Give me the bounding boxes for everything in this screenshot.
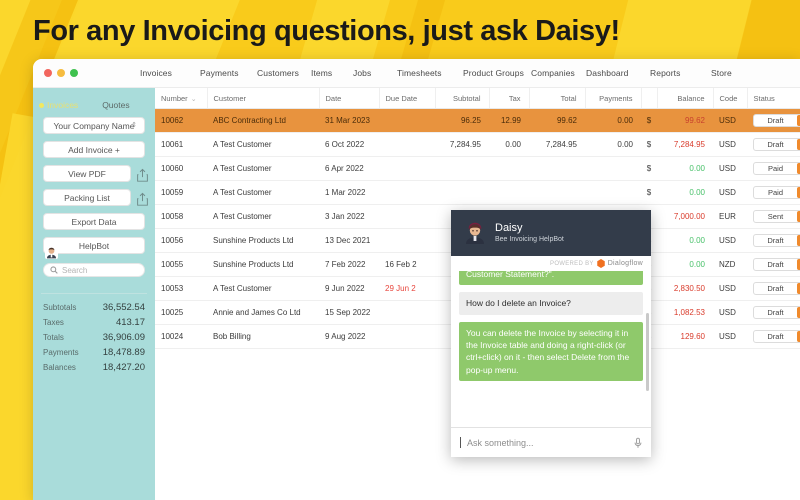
nav-item-product-groups[interactable]: Product Groups — [463, 68, 524, 78]
status-badge[interactable]: Draft▲▼ — [753, 234, 800, 247]
cell-code: USD — [713, 325, 747, 349]
table-row[interactable]: 10062ABC Contracting Ltd31 Mar 202396.25… — [155, 109, 800, 133]
column-header-label: Total — [561, 94, 577, 103]
powered-by-bar: POWERED BY Dialogflow — [451, 256, 651, 271]
cell-balance: 7,000.00 — [657, 205, 713, 229]
cell-subtotal: 96.25 — [435, 109, 489, 133]
column-header-code[interactable]: Code — [713, 88, 747, 109]
table-row[interactable]: 10060A Test Customer6 Apr 2022$0.00USDPa… — [155, 157, 800, 181]
cell-date: 6 Oct 2022 — [319, 133, 379, 157]
column-header-date[interactable]: Date — [319, 88, 379, 109]
cell-customer: ABC Contracting Ltd — [207, 109, 319, 133]
sidebar: Invoices Quotes Your Company Name ⇕ Add … — [33, 88, 155, 500]
nav-item-payments[interactable]: Payments — [200, 68, 239, 78]
column-header-customer[interactable]: Customer — [207, 88, 319, 109]
cell-due-date — [379, 157, 435, 181]
balance-value: 0.00 — [689, 260, 705, 269]
chat-title: Daisy — [495, 222, 564, 236]
column-header-label: Customer — [214, 94, 247, 103]
cell-customer: Bob Billing — [207, 325, 319, 349]
chat-messages: Customer Statement?". How do I delete an… — [451, 271, 651, 427]
cell-due-date — [379, 301, 435, 325]
company-selector-label: Your Company Name — [54, 121, 135, 131]
cell-due-date — [379, 133, 435, 157]
cell-due-date: 16 Feb 2 — [379, 253, 435, 277]
cell-customer: A Test Customer — [207, 157, 319, 181]
status-label: Draft — [754, 236, 797, 245]
sidebar-tabs: Invoices Quotes — [33, 96, 155, 110]
cell-customer: A Test Customer — [207, 133, 319, 157]
cell-tax — [489, 181, 529, 205]
balance-value: 129.60 — [681, 332, 705, 341]
sidebar-tab-invoices[interactable]: Invoices — [39, 100, 78, 110]
cell-customer: Sunshine Products Ltd — [207, 229, 319, 253]
cell-number: 10061 — [155, 133, 207, 157]
cell-code: USD — [713, 229, 747, 253]
cell-status: Draft▲▼ — [747, 277, 800, 301]
column-header-currency[interactable] — [641, 88, 657, 109]
summary-totals: Subtotals36,552.54Taxes413.17Totals36,90… — [41, 293, 147, 375]
cell-subtotal — [435, 181, 489, 205]
cell-payments — [585, 157, 641, 181]
share-icon[interactable] — [136, 192, 149, 207]
sort-chevron-icon[interactable]: ⌄ — [191, 96, 197, 103]
nav-item-jobs[interactable]: Jobs — [353, 68, 371, 78]
balance-value: 7,000.00 — [674, 212, 705, 221]
column-header-label: Date — [326, 94, 342, 103]
sidebar-tab-label: Invoices — [47, 100, 78, 110]
status-label: Paid — [754, 188, 797, 197]
cell-currency-symbol: $ — [641, 181, 657, 205]
add-invoice-button[interactable]: Add Invoice + — [43, 141, 145, 158]
status-label: Draft — [754, 284, 797, 293]
balance-value: 0.00 — [689, 164, 705, 173]
cell-payments: 0.00 — [585, 133, 641, 157]
status-label: Draft — [754, 332, 797, 341]
cell-payments — [585, 181, 641, 205]
cell-date: 3 Jan 2022 — [319, 205, 379, 229]
cell-subtotal — [435, 157, 489, 181]
cell-due-date: 29 Jun 2 — [379, 277, 435, 301]
helpbot-avatar-icon — [45, 246, 58, 259]
column-header-label: Tax — [509, 94, 521, 103]
packing-list-label: Packing List — [64, 193, 110, 203]
cell-due-date — [379, 205, 435, 229]
company-selector[interactable]: Your Company Name ⇕ — [43, 117, 145, 134]
cell-balance: 129.60 — [657, 325, 713, 349]
chat-input-row[interactable]: Ask something... — [451, 427, 651, 457]
cell-date: 6 Apr 2022 — [319, 157, 379, 181]
share-icon[interactable] — [136, 168, 149, 183]
cell-date: 9 Jun 2022 — [319, 277, 379, 301]
cell-total — [529, 157, 585, 181]
column-header-payments[interactable]: Payments — [585, 88, 641, 109]
window-body: Invoices Quotes Your Company Name ⇕ Add … — [33, 88, 800, 500]
microphone-icon[interactable] — [634, 437, 642, 449]
packing-list-button[interactable]: Packing List — [43, 189, 131, 206]
cell-total: 7,284.95 — [529, 133, 585, 157]
column-header-label: Number — [161, 94, 188, 103]
status-badge[interactable]: Sent▲▼ — [753, 210, 800, 223]
balance-value: 0.00 — [689, 236, 705, 245]
cell-number: 10055 — [155, 253, 207, 277]
cell-status: Draft▲▼ — [747, 229, 800, 253]
cell-code: EUR — [713, 205, 747, 229]
maximize-icon[interactable] — [70, 69, 78, 77]
view-pdf-button[interactable]: View PDF — [43, 165, 131, 182]
cell-number: 10059 — [155, 181, 207, 205]
cell-status: Draft▲▼ — [747, 109, 800, 133]
status-label: Draft — [754, 260, 797, 269]
column-header-total[interactable]: Total — [529, 88, 585, 109]
status-label: Draft — [754, 116, 797, 125]
cell-balance: 7,284.95 — [657, 133, 713, 157]
cell-currency-symbol: $ — [641, 109, 657, 133]
status-badge[interactable]: Paid▲▼ — [753, 186, 800, 199]
column-header-due-date[interactable]: Due Date — [379, 88, 435, 109]
status-label: Draft — [754, 140, 797, 149]
cell-number: 10060 — [155, 157, 207, 181]
cell-balance: 0.00 — [657, 181, 713, 205]
summary-label: Payments — [43, 348, 79, 357]
powered-by-label: POWERED BY — [550, 261, 594, 267]
view-pdf-row: View PDF — [33, 165, 155, 182]
balance-value: 1,082.53 — [674, 308, 705, 317]
cell-status: Draft▲▼ — [747, 301, 800, 325]
column-header-status[interactable]: Status — [747, 88, 800, 109]
cell-date: 7 Feb 2022 — [319, 253, 379, 277]
cell-total — [529, 181, 585, 205]
nav-item-reports[interactable]: Reports — [650, 68, 680, 78]
column-header-label: Payments — [599, 94, 632, 103]
status-label: Draft — [754, 308, 797, 317]
status-badge[interactable]: Draft▲▼ — [753, 330, 800, 343]
column-header-balance[interactable]: Balance — [657, 88, 713, 109]
summary-value: 36,552.54 — [103, 302, 145, 313]
balance-value: 99.62 — [685, 116, 705, 125]
summary-value: 413.17 — [116, 317, 145, 328]
cell-code: USD — [713, 157, 747, 181]
cell-customer: A Test Customer — [207, 181, 319, 205]
daisy-avatar-icon — [463, 221, 487, 245]
cell-number: 10025 — [155, 301, 207, 325]
summary-value: 18,478.89 — [103, 347, 145, 358]
nav-item-store[interactable]: Store — [711, 68, 732, 78]
balance-value: 2,830.50 — [674, 284, 705, 293]
table-header: Number⌄CustomerDateDue DateSubtotalTaxTo… — [155, 88, 800, 109]
status-label: Paid — [754, 164, 797, 173]
helpbot-row: HelpBot — [33, 237, 155, 254]
cell-status: Paid▲▼ — [747, 157, 800, 181]
helpbot-button[interactable]: HelpBot — [43, 237, 145, 254]
dialogflow-icon — [597, 259, 605, 268]
cell-code: USD — [713, 277, 747, 301]
summary-label: Totals — [43, 333, 64, 342]
table-row[interactable]: 10061A Test Customer6 Oct 20227,284.950.… — [155, 133, 800, 157]
view-pdf-label: View PDF — [68, 169, 106, 179]
cell-balance: 99.62 — [657, 109, 713, 133]
table-row[interactable]: 10059A Test Customer1 Mar 2022$0.00USDPa… — [155, 181, 800, 205]
text-caret — [460, 437, 461, 448]
cell-customer: A Test Customer — [207, 277, 319, 301]
cell-tax: 12.99 — [489, 109, 529, 133]
export-data-button[interactable]: Export Data — [43, 213, 145, 230]
balance-value: 0.00 — [689, 188, 705, 197]
summary-row: Taxes413.17 — [41, 315, 147, 330]
summary-row: Subtotals36,552.54 — [41, 300, 147, 315]
cell-payments: 0.00 — [585, 109, 641, 133]
cell-number: 10053 — [155, 277, 207, 301]
column-header-label: Code — [720, 94, 738, 103]
chat-input-placeholder: Ask something... — [467, 438, 628, 448]
cell-balance: 0.00 — [657, 253, 713, 277]
nav-item-customers[interactable]: Customers — [257, 68, 299, 78]
chat-message-bot: Customer Statement?". — [459, 271, 643, 285]
chat-header: Daisy Bee Invoicing HelpBot — [451, 210, 651, 256]
nav-item-invoices[interactable]: Invoices — [140, 68, 172, 78]
chat-widget[interactable]: Daisy Bee Invoicing HelpBot POWERED BY D… — [451, 210, 651, 457]
add-invoice-label: Add Invoice + — [68, 145, 120, 155]
cell-date: 1 Mar 2022 — [319, 181, 379, 205]
column-header-label: Due Date — [386, 94, 418, 103]
summary-row: Totals36,906.09 — [41, 330, 147, 345]
cell-total: 99.62 — [529, 109, 585, 133]
cell-status: Draft▲▼ — [747, 325, 800, 349]
cell-status: Draft▲▼ — [747, 133, 800, 157]
chat-message-user: How do I delete an Invoice? — [459, 292, 643, 314]
cell-balance: 0.00 — [657, 229, 713, 253]
status-badge[interactable]: Draft▲▼ — [753, 114, 800, 127]
cell-customer: Annie and James Co Ltd — [207, 301, 319, 325]
nav-item-dashboard[interactable]: Dashboard — [586, 68, 628, 78]
status-badge[interactable]: Paid▲▼ — [753, 162, 800, 175]
cell-status: Paid▲▼ — [747, 181, 800, 205]
table-header-row: Number⌄CustomerDateDue DateSubtotalTaxTo… — [155, 88, 800, 109]
cell-due-date — [379, 181, 435, 205]
cell-code: USD — [713, 181, 747, 205]
column-header-number[interactable]: Number⌄ — [155, 88, 207, 109]
search-placeholder: Search — [62, 266, 87, 275]
cell-code: USD — [713, 109, 747, 133]
cell-due-date — [379, 229, 435, 253]
cell-code: NZD — [713, 253, 747, 277]
cell-due-date — [379, 109, 435, 133]
status-badge[interactable]: Draft▲▼ — [753, 258, 800, 271]
cell-number: 10024 — [155, 325, 207, 349]
close-icon[interactable] — [44, 69, 52, 77]
chat-message-bot: You can delete the Invoice by selecting … — [459, 322, 643, 381]
cell-subtotal: 7,284.95 — [435, 133, 489, 157]
chat-subtitle: Bee Invoicing HelpBot — [495, 236, 564, 245]
cell-currency-symbol: $ — [641, 157, 657, 181]
app-window: InvoicesPaymentsCustomersItemsJobsTimesh… — [33, 59, 800, 500]
cell-balance: 2,830.50 — [657, 277, 713, 301]
column-header-label: Subtotal — [453, 94, 481, 103]
summary-label: Taxes — [43, 318, 64, 327]
nav-item-companies[interactable]: Companies — [531, 68, 575, 78]
cell-number: 10056 — [155, 229, 207, 253]
chevron-updown-icon: ⇕ — [131, 122, 137, 129]
cell-customer: Sunshine Products Ltd — [207, 253, 319, 277]
chat-identity: Daisy Bee Invoicing HelpBot — [495, 222, 564, 245]
column-header-tax[interactable]: Tax — [489, 88, 529, 109]
cell-status: Sent▲▼ — [747, 205, 800, 229]
column-header-subtotal[interactable]: Subtotal — [435, 88, 489, 109]
column-header-label: Balance — [677, 94, 704, 103]
cell-date: 13 Dec 2021 — [319, 229, 379, 253]
cell-number: 10058 — [155, 205, 207, 229]
search-icon — [50, 266, 58, 274]
cell-date: 31 Mar 2023 — [319, 109, 379, 133]
status-badge[interactable]: Draft▲▼ — [753, 306, 800, 319]
balance-value: 7,284.95 — [674, 140, 705, 149]
cell-date: 15 Sep 2022 — [319, 301, 379, 325]
status-label: Sent — [754, 212, 797, 221]
summary-label: Subtotals — [43, 303, 76, 312]
active-dot-icon — [39, 103, 44, 108]
export-data-label: Export Data — [72, 217, 117, 227]
packing-list-row: Packing List — [33, 189, 155, 206]
status-badge[interactable]: Draft▲▼ — [753, 138, 800, 151]
summary-value: 36,906.09 — [103, 332, 145, 343]
cell-balance: 1,082.53 — [657, 301, 713, 325]
summary-label: Balances — [43, 363, 76, 372]
cell-code: USD — [713, 133, 747, 157]
summary-row: Payments18,478.89 — [41, 345, 147, 360]
column-header-label: Status — [754, 94, 775, 103]
nav-item-timesheets[interactable]: Timesheets — [397, 68, 442, 78]
cell-currency-symbol: $ — [641, 133, 657, 157]
provider-label: Dialogflow — [608, 260, 643, 267]
minimize-icon[interactable] — [57, 69, 65, 77]
cell-code: USD — [713, 301, 747, 325]
nav-item-items[interactable]: Items — [311, 68, 332, 78]
status-badge[interactable]: Draft▲▼ — [753, 282, 800, 295]
chat-scrollbar[interactable] — [646, 313, 649, 391]
cell-due-date — [379, 325, 435, 349]
sidebar-tab-quotes[interactable]: Quotes — [102, 100, 129, 110]
cell-balance: 0.00 — [657, 157, 713, 181]
cell-date: 9 Aug 2022 — [319, 325, 379, 349]
summary-row: Balances18,427.20 — [41, 360, 147, 375]
helpbot-label: HelpBot — [79, 241, 109, 251]
summary-value: 18,427.20 — [103, 362, 145, 373]
cell-tax — [489, 157, 529, 181]
cell-status: Draft▲▼ — [747, 253, 800, 277]
page-title: For any Invoicing questions, just ask Da… — [33, 15, 620, 48]
window-titlebar: InvoicesPaymentsCustomersItemsJobsTimesh… — [33, 59, 800, 88]
cell-number: 10062 — [155, 109, 207, 133]
search-input[interactable]: Search — [43, 263, 145, 277]
cell-tax: 0.00 — [489, 133, 529, 157]
sidebar-tab-label: Quotes — [102, 100, 129, 110]
window-controls[interactable] — [33, 69, 155, 77]
cell-customer: A Test Customer — [207, 205, 319, 229]
